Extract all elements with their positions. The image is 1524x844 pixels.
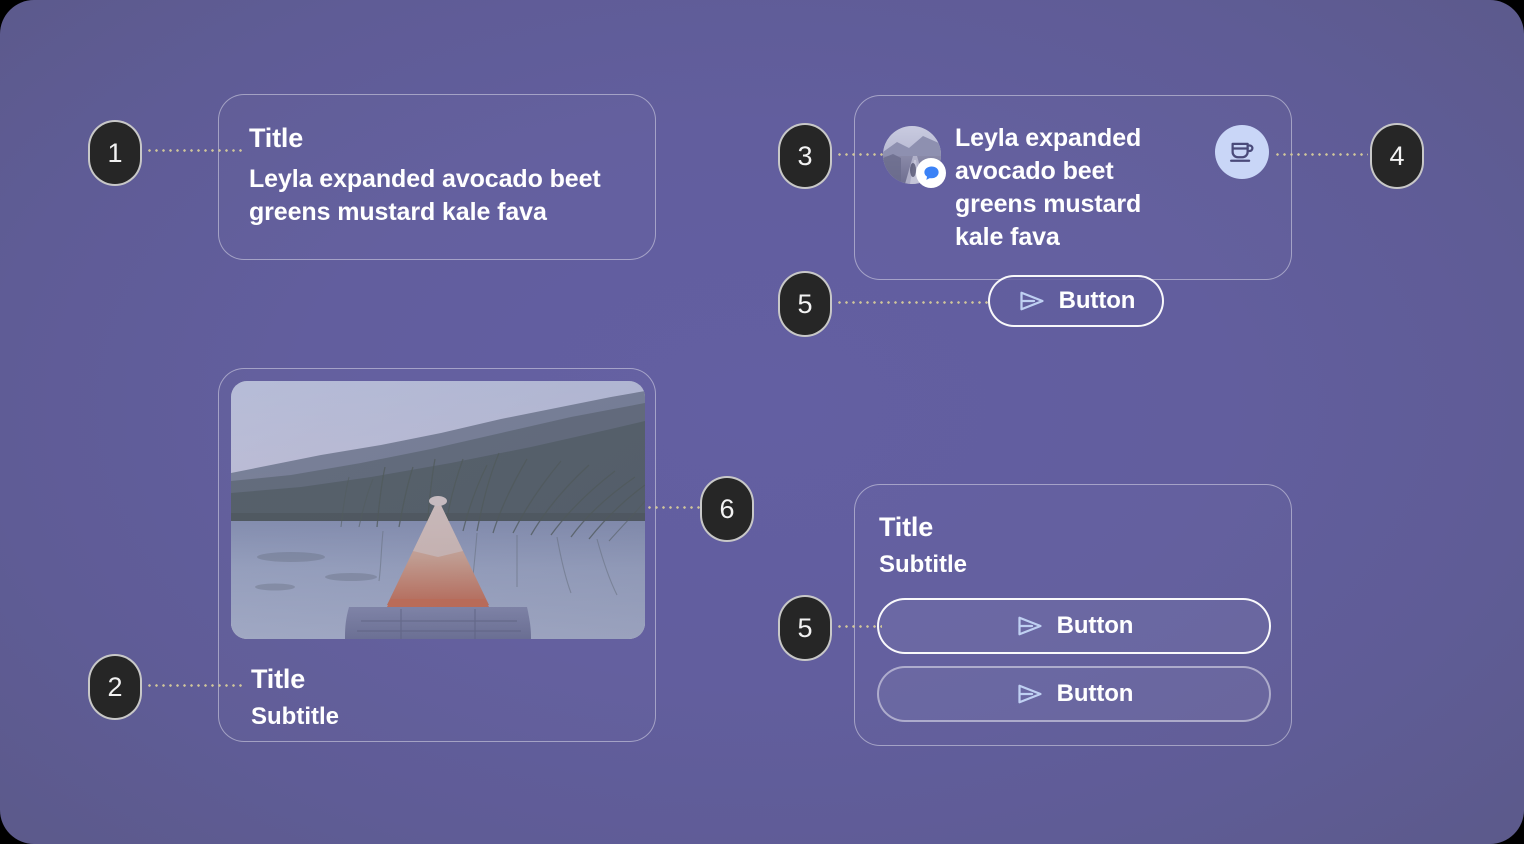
card-title-subtitle-buttons[interactable]: Title Subtitle Button Button	[854, 484, 1292, 746]
card-one-title: Title	[249, 121, 625, 155]
leader-line-2	[146, 684, 242, 687]
card-four-title: Title	[879, 511, 1269, 544]
callout-badge-1-label: 1	[107, 138, 122, 169]
leader-line-4	[1274, 153, 1368, 156]
card-one-body: Leyla expanded avocado beet greens musta…	[249, 163, 625, 229]
callout-badge-5-stack[interactable]: 5	[778, 595, 832, 661]
callout-badge-3-label: 3	[797, 141, 812, 172]
callout-badge-6[interactable]: 6	[700, 476, 754, 542]
leader-line-1	[146, 149, 242, 152]
callout-badge-2[interactable]: 2	[88, 654, 142, 720]
coffee-icon-container[interactable]	[1215, 125, 1269, 179]
callout-badge-2-label: 2	[107, 672, 122, 703]
card-four-first-button[interactable]: Button	[877, 598, 1271, 654]
chat-bubble-icon	[922, 164, 941, 183]
card-two-media	[231, 381, 645, 639]
kayak-lake-photo	[231, 381, 645, 639]
leader-line-3	[836, 153, 886, 156]
card-four-second-button[interactable]: Button	[877, 666, 1271, 722]
leader-line-5a	[836, 301, 992, 304]
callout-badge-4-label: 4	[1389, 141, 1404, 172]
chat-bubble-badge	[916, 158, 946, 188]
card-avatar-message[interactable]: Leyla expanded avocado beet greens musta…	[854, 95, 1292, 280]
avatar[interactable]	[883, 126, 941, 184]
card-title-body[interactable]: Title Leyla expanded avocado beet greens…	[218, 94, 656, 260]
callout-badge-5-stack-label: 5	[797, 613, 812, 644]
floating-button[interactable]: Button	[988, 275, 1164, 327]
card-three-body: Leyla expanded avocado beet greens musta…	[955, 122, 1187, 254]
annotated-component-board: Title Leyla expanded avocado beet greens…	[0, 0, 1524, 844]
leader-line-5b	[836, 625, 882, 628]
callout-badge-6-label: 6	[719, 494, 734, 525]
card-media[interactable]: Title Subtitle	[218, 368, 656, 742]
callout-badge-5-floating[interactable]: 5	[778, 271, 832, 337]
card-four-subtitle: Subtitle	[879, 550, 1269, 580]
callout-badge-5-floating-label: 5	[797, 289, 812, 320]
leader-line-6	[646, 506, 704, 509]
callout-badge-4[interactable]: 4	[1370, 123, 1424, 189]
send-icon	[1015, 611, 1045, 641]
card-four-first-button-label: Button	[1057, 612, 1134, 640]
floating-button-label: Button	[1059, 287, 1136, 315]
coffee-cup-icon	[1227, 137, 1257, 167]
callout-badge-3[interactable]: 3	[778, 123, 832, 189]
card-four-second-button-label: Button	[1057, 680, 1134, 708]
send-icon	[1017, 286, 1047, 316]
callout-badge-1[interactable]: 1	[88, 120, 142, 186]
card-two-subtitle: Subtitle	[251, 702, 643, 732]
card-two-title: Title	[251, 663, 643, 695]
send-icon	[1015, 679, 1045, 709]
